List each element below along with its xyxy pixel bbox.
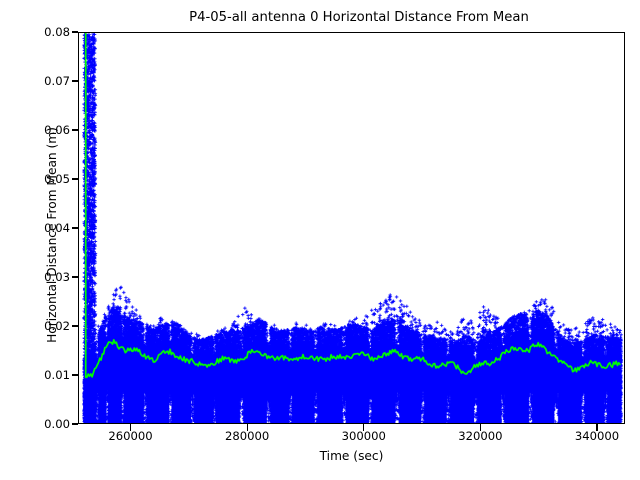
y-tick-label: 0.01 [8,368,70,382]
x-tick-mark [247,424,248,431]
x-axis-label: Time (sec) [78,449,625,463]
chart-figure: P4-05-all antenna 0 Horizontal Distance … [0,0,640,480]
y-tick-mark [72,374,79,375]
y-tick-mark [72,227,79,228]
y-tick-label: 0.07 [8,74,70,88]
y-tick-label: 0.03 [8,270,70,284]
chart-title: P4-05-all antenna 0 Horizontal Distance … [0,10,640,25]
y-tick-mark [72,80,79,81]
x-tick-label: 320000 [458,429,502,443]
y-tick-label: 0.04 [8,221,70,235]
x-tick-label: 260000 [108,429,152,443]
x-tick-mark [480,424,481,431]
y-tick-mark [72,178,79,179]
x-tick-label: 280000 [225,429,269,443]
y-tick-mark [72,276,79,277]
y-tick-mark [72,325,79,326]
x-tick-label: 300000 [342,429,386,443]
y-tick-mark [72,129,79,130]
plot-canvas [79,33,624,423]
y-tick-label: 0.08 [8,25,70,39]
x-tick-mark [363,424,364,431]
y-tick-label: 0.00 [8,417,70,431]
y-tick-label: 0.05 [8,172,70,186]
y-tick-label: 0.06 [8,123,70,137]
y-tick-mark [72,423,79,424]
y-tick-mark [72,31,79,32]
x-tick-mark [130,424,131,431]
y-tick-label: 0.02 [8,319,70,333]
x-tick-label: 340000 [575,429,619,443]
y-axis-label: Horizontal Distance From Mean (m) [45,85,59,385]
x-tick-mark [596,424,597,431]
plot-area [78,32,625,424]
